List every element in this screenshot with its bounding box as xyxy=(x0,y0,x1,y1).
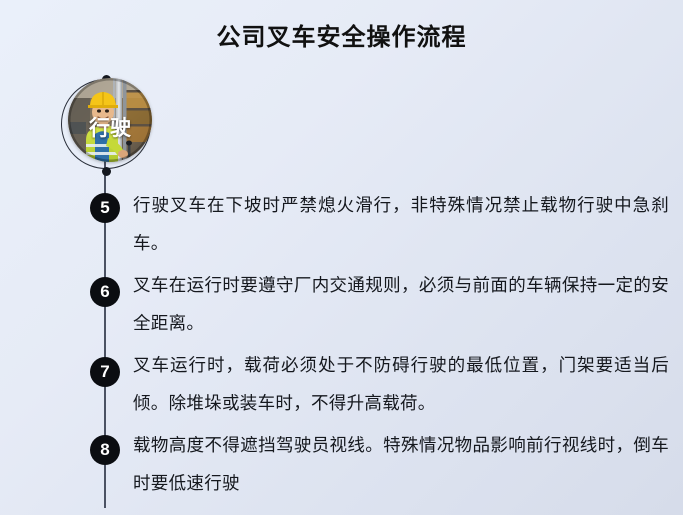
step-number-marker: 8 xyxy=(90,435,120,465)
page-title: 公司叉车安全操作流程 xyxy=(0,22,683,52)
hero-label: 行驶 xyxy=(68,116,152,140)
step-number-marker: 5 xyxy=(90,193,120,223)
step-text: 行驶叉车在下坡时严禁熄火滑行，非特殊情况禁止载物行驶中急刹车。 xyxy=(133,187,669,263)
slide-canvas: 公司叉车安全操作流程 xyxy=(0,0,683,515)
spine-dot-bottom xyxy=(102,167,111,176)
step-number-marker: 7 xyxy=(90,357,120,387)
step-text: 叉车运行时，载荷必须处于不防碍行驶的最低位置，门架要适当后倾。除堆垛或装车时，不… xyxy=(133,347,669,423)
step-text: 叉车在运行时要遵守厂内交通规则，必须与前面的车辆保持一定的安全距离。 xyxy=(133,267,669,343)
step-number-marker: 6 xyxy=(90,277,120,307)
hero-badge: 行驶 xyxy=(60,72,152,176)
step-text: 载物高度不得遮挡驾驶员视线。特殊情况物品影响前行视线时，倒车时要低速行驶 xyxy=(133,427,669,503)
